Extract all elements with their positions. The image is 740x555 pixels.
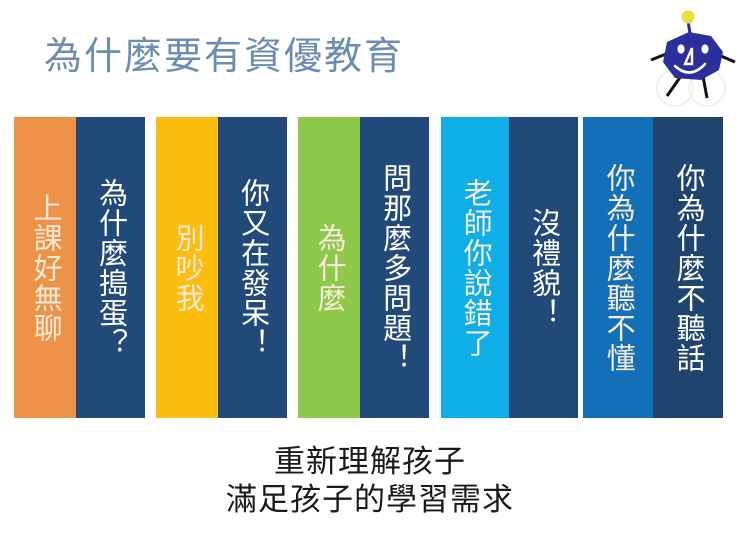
footer-message: 重新理解孩子 滿足孩子的學習需求 <box>0 443 740 519</box>
panel-child-voice-2: 別吵我 <box>156 117 218 418</box>
mascot-illustration <box>645 4 740 108</box>
dialogue-panel-band: 上課好無聊 為什麼搗蛋？ 別吵我 你又在發呆！ 為什麼 問那麼多問題！ 老師你說… <box>0 117 740 418</box>
page-title: 為什麼要有資優教育 <box>44 34 404 80</box>
panel-child-voice-4: 老師你說錯了 <box>441 117 509 418</box>
panel-text-child-2: 別吵我 <box>168 223 206 313</box>
panel-adult-voice-2: 你又在發呆！ <box>218 117 287 418</box>
panel-group-5: 你為什麼聽不懂 你為什麼不聽話 <box>583 117 723 418</box>
panel-text-adult-1: 為什麼搗蛋？ <box>91 178 129 358</box>
panel-group-3: 為什麼 問那麼多問題！ <box>298 117 429 418</box>
panel-text-child-4: 老師你說錯了 <box>456 178 494 358</box>
panel-child-voice-3: 為什麼 <box>298 117 360 418</box>
panel-text-child-3: 為什麼 <box>310 223 348 313</box>
panel-text-adult-2: 你又在發呆！ <box>233 178 271 358</box>
footer-line-2: 滿足孩子的學習需求 <box>0 481 740 519</box>
panel-group-4: 老師你說錯了 沒禮貌！ <box>441 117 578 418</box>
panel-text-child-1: 上課好無聊 <box>26 193 64 343</box>
mascot-eye-left <box>677 44 684 53</box>
panel-group-2: 別吵我 你又在發呆！ <box>156 117 287 418</box>
panel-adult-voice-5: 你為什麼不聽話 <box>653 117 723 418</box>
panel-group-1: 上課好無聊 為什麼搗蛋？ <box>14 117 145 418</box>
panel-adult-voice-3: 問那麼多問題！ <box>360 117 429 418</box>
panel-text-adult-3: 問那麼多問題！ <box>375 163 413 373</box>
mascot-leg-right <box>703 76 707 98</box>
panel-text-adult-4: 沒禮貌！ <box>524 208 562 328</box>
mascot-leg-left <box>667 76 681 96</box>
mascot-arm-right <box>721 56 735 62</box>
panel-child-voice-1: 上課好無聊 <box>14 117 76 418</box>
panel-adult-voice-4: 沒禮貌！ <box>509 117 578 418</box>
panel-text-adult-5: 你為什麼不聽話 <box>669 163 707 373</box>
panel-text-child-5: 你為什麼聽不懂 <box>599 163 637 373</box>
mascot-eye-right <box>701 44 708 53</box>
panel-adult-voice-1: 為什麼搗蛋？ <box>76 117 145 418</box>
panel-child-voice-5: 你為什麼聽不懂 <box>583 117 653 418</box>
footer-line-1: 重新理解孩子 <box>0 443 740 481</box>
mascot-antenna-ball <box>682 11 695 24</box>
